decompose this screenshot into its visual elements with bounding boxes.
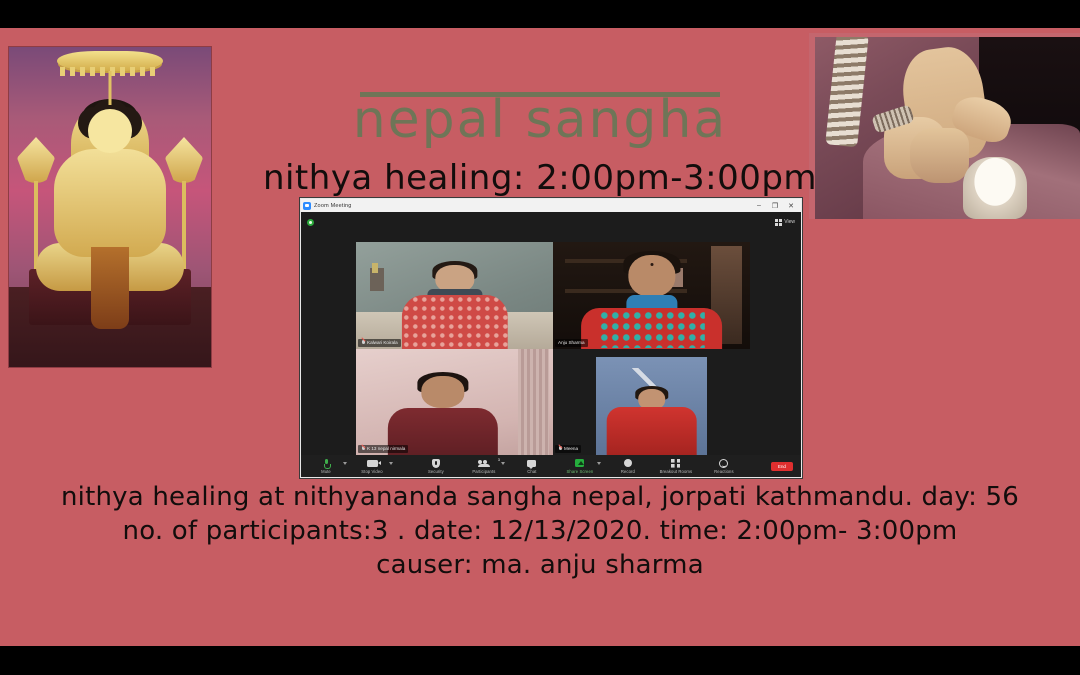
participant-name: Kalwari Koirala [367, 339, 398, 347]
reactions-icon [719, 459, 728, 468]
participant-name: Meena [564, 445, 578, 453]
view-button-label: View [784, 219, 795, 225]
recording-indicator-icon[interactable] [307, 219, 314, 226]
zoom-top-bar: View [301, 212, 801, 232]
poster-canvas: nepal sangha nithya healing: 2:00pm-3:00… [0, 0, 1080, 675]
participants-count: 3 [498, 458, 500, 462]
participant-name: Anju Sharma [558, 339, 585, 347]
maximize-icon[interactable]: ❐ [767, 202, 783, 210]
caption-line-3: causer: ma. anju sharma [0, 548, 1080, 582]
chevron-up-icon[interactable] [501, 462, 505, 465]
caption-line-1: nithya healing at nithyananda sangha nep… [0, 480, 1080, 514]
video-tile[interactable]: K 13 nepal nirmala [356, 349, 553, 456]
poster-content: nepal sangha nithya healing: 2:00pm-3:00… [0, 28, 1080, 646]
mute-label: Mute [321, 469, 331, 474]
page-subtitle: nithya healing: 2:00pm-3:00pm [0, 158, 1080, 198]
mic-muted-icon [558, 446, 562, 452]
chevron-up-icon[interactable] [597, 462, 601, 465]
chevron-up-icon[interactable] [389, 462, 393, 465]
video-feed [356, 349, 553, 456]
zoom-titlebar[interactable]: Zoom Meeting – ❐ ✕ [301, 199, 801, 212]
caption-line-2: no. of participants:3 . date: 12/13/2020… [0, 514, 1080, 548]
participants-button[interactable]: 3 Participants [467, 459, 501, 474]
letterbox-bottom [0, 646, 1080, 675]
view-button[interactable]: View [775, 219, 795, 226]
zoom-meeting-window[interactable]: Zoom Meeting – ❐ ✕ View [300, 198, 802, 478]
stop-video-button[interactable]: Stop Video [355, 459, 389, 474]
video-tile-active-speaker[interactable]: Anju Sharma [553, 242, 750, 349]
video-feed [356, 242, 553, 349]
video-feed [553, 242, 750, 349]
participant-name: K 13 nepal nirmala [367, 445, 405, 453]
page-title: nepal sangha [0, 88, 1080, 146]
mic-muted-icon [361, 340, 365, 346]
poster-caption: nithya healing at nithyananda sangha nep… [0, 480, 1080, 582]
letterbox-top [0, 0, 1080, 28]
reactions-button[interactable]: Reactions [707, 459, 741, 474]
participant-name-tag: K 13 nepal nirmala [358, 445, 408, 453]
record-icon [624, 459, 632, 467]
participants-label: Participants [472, 469, 495, 474]
grid-view-icon [775, 219, 782, 226]
video-tile[interactable]: Meena [553, 349, 750, 456]
page-title-text: nepal sangha [353, 88, 728, 146]
chat-icon [527, 460, 536, 467]
record-label: Record [621, 469, 635, 474]
breakout-rooms-label: Breakout Rooms [660, 469, 693, 474]
security-label: Security [428, 469, 444, 474]
share-screen-icon [575, 459, 584, 467]
share-screen-button[interactable]: Share Screen [563, 459, 597, 474]
microphone-icon [324, 459, 329, 468]
participant-name-tag: Meena [555, 445, 581, 453]
close-icon[interactable]: ✕ [783, 202, 799, 210]
video-gallery-grid: Kalwari Koirala Anju Sharma [356, 242, 750, 455]
mute-button[interactable]: Mute [309, 459, 343, 474]
zoom-logo-icon [303, 202, 311, 210]
end-meeting-button[interactable]: End [771, 462, 793, 471]
participant-name-tag: Anju Sharma [555, 339, 588, 347]
chat-button[interactable]: Chat [515, 459, 549, 474]
camera-icon [367, 460, 378, 467]
window-title: Zoom Meeting [314, 203, 751, 209]
record-button[interactable]: Record [611, 459, 645, 474]
parasol-canopy-icon [57, 51, 163, 71]
shield-icon [432, 459, 440, 468]
breakout-rooms-button[interactable]: Breakout Rooms [659, 459, 693, 474]
participants-icon [478, 460, 489, 467]
video-feed [553, 349, 750, 456]
share-screen-label: Share Screen [567, 469, 594, 474]
participant-name-tag: Kalwari Koirala [358, 339, 401, 347]
video-tile[interactable]: Kalwari Koirala [356, 242, 553, 349]
stop-video-label: Stop Video [361, 469, 382, 474]
reactions-label: Reactions [714, 469, 734, 474]
zoom-toolbar: Mute Stop Video Security [301, 455, 801, 477]
breakout-rooms-icon [671, 459, 680, 468]
zoom-meeting-body: View Kalwari Koirala [301, 212, 801, 477]
chevron-up-icon[interactable] [343, 462, 347, 465]
security-button[interactable]: Security [419, 459, 453, 474]
deity-cloth [91, 247, 129, 329]
chat-label: Chat [527, 469, 536, 474]
mic-muted-icon [361, 446, 365, 452]
minimize-icon[interactable]: – [751, 202, 767, 209]
